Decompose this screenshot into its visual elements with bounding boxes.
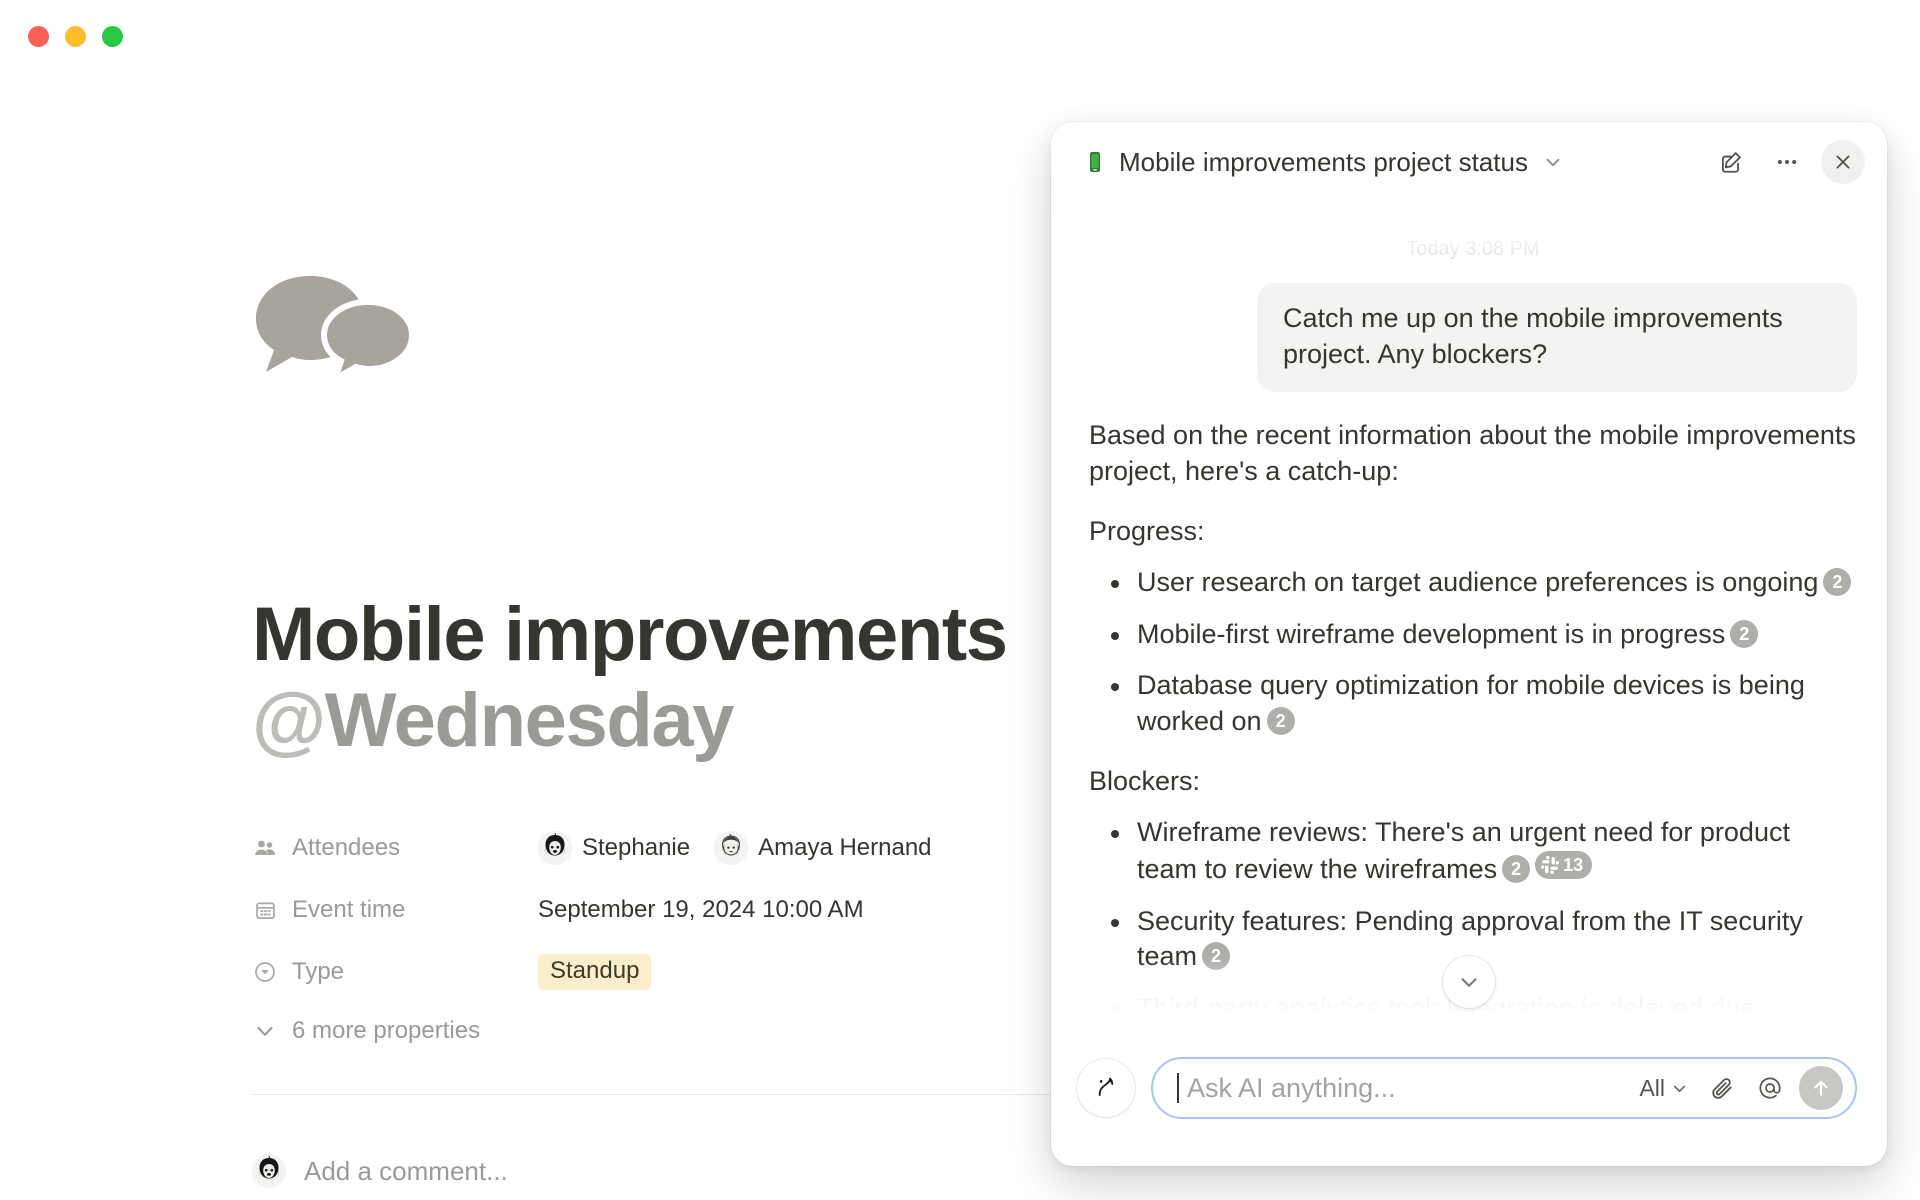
close-icon[interactable]	[1821, 140, 1865, 184]
list-item: Mobile-first wireframe development is in…	[1089, 617, 1857, 653]
window-close-button[interactable]	[28, 26, 49, 47]
citation-badge-slack[interactable]: 13	[1535, 851, 1592, 879]
more-horizontal-icon[interactable]	[1765, 140, 1809, 184]
ai-conversation-area[interactable]: Today 3:08 PM Catch me up on the mobile …	[1051, 202, 1887, 1034]
ai-section-heading-blockers: Blockers:	[1089, 764, 1857, 800]
chevron-down-icon	[1670, 1079, 1689, 1098]
ai-panel-header: Mobile improvements project status	[1051, 122, 1887, 202]
compose-icon[interactable]	[1709, 140, 1753, 184]
more-properties-label: 6 more properties	[292, 1017, 480, 1045]
user-message-row: Catch me up on the mobile improvements p…	[1089, 283, 1857, 392]
page-title-mention: Wednesday	[325, 678, 733, 763]
calendar-icon	[252, 897, 278, 923]
page-title-mention-at: @	[252, 678, 325, 763]
comment-input-placeholder[interactable]: Add a comment...	[304, 1156, 508, 1187]
property-label-type: Type	[252, 958, 538, 986]
ai-response-intro: Based on the recent information about th…	[1089, 418, 1857, 489]
send-arrow-up-icon[interactable]	[1799, 1066, 1843, 1110]
ai-assistant-icon[interactable]	[1077, 1059, 1135, 1117]
property-value-attendees[interactable]: Stephanie	[538, 831, 946, 865]
ai-chat-panel: Mobile improvements project status	[1051, 122, 1887, 1166]
ai-conversation-scroll[interactable]: Today 3:08 PM Catch me up on the mobile …	[1051, 202, 1887, 1034]
list-item-text: Third-party analytics tool: Integration …	[1137, 993, 1755, 1023]
people-icon	[252, 835, 278, 861]
text-caret	[1177, 1073, 1179, 1103]
attendee-name: Amaya Hernand	[758, 834, 931, 862]
traffic-lights	[28, 26, 123, 47]
user-message-bubble: Catch me up on the mobile improvements p…	[1257, 283, 1857, 392]
scope-label: All	[1639, 1075, 1665, 1102]
citation-badge[interactable]: 2	[1730, 620, 1758, 648]
add-comment-row[interactable]: Add a comment...	[252, 1154, 508, 1188]
attendee-item[interactable]: Stephanie	[538, 831, 690, 865]
property-label-text: Attendees	[292, 834, 400, 862]
avatar-amaya	[714, 831, 748, 865]
ai-composer: Ask AI anything... All	[1051, 1034, 1887, 1166]
speech-bubbles-icon	[252, 272, 422, 382]
scope-selector[interactable]: All	[1633, 1075, 1695, 1102]
list-item-text: Database query optimization for mobile d…	[1137, 670, 1805, 736]
page-title-text: Mobile improvements	[252, 592, 1007, 677]
at-icon[interactable]	[1749, 1067, 1791, 1109]
list-item: Wireframe reviews: There's an urgent nee…	[1089, 815, 1857, 887]
list-item: Database query optimization for mobile d…	[1089, 668, 1857, 739]
chevron-down-icon	[1456, 969, 1482, 995]
citation-count: 13	[1563, 856, 1583, 874]
ai-section-heading-progress: Progress:	[1089, 514, 1857, 550]
window-maximize-button[interactable]	[102, 26, 123, 47]
attendee-name: Stephanie	[582, 834, 690, 862]
citation-badge[interactable]: 2	[1823, 568, 1851, 596]
ai-section-list-progress: User research on target audience prefere…	[1089, 565, 1857, 740]
chevron-down-icon[interactable]	[1542, 151, 1564, 173]
select-icon	[252, 959, 278, 985]
attendee-item[interactable]: Amaya Hernand	[714, 831, 931, 865]
property-label-text: Type	[292, 958, 344, 986]
citation-badge[interactable]: 2	[1267, 707, 1295, 735]
avatar-stephanie	[252, 1154, 286, 1188]
ai-input-placeholder[interactable]: Ask AI anything...	[1187, 1073, 1627, 1104]
status-badge[interactable]: Standup	[538, 954, 651, 990]
scroll-to-bottom-button[interactable]	[1443, 956, 1495, 1008]
window-titlebar	[0, 0, 1920, 72]
list-item-text: Wireframe reviews: There's an urgent nee…	[1137, 817, 1790, 884]
list-item: User research on target audience prefere…	[1089, 565, 1857, 601]
chevron-down-icon	[252, 1018, 278, 1044]
window-minimize-button[interactable]	[65, 26, 86, 47]
slack-icon	[1540, 855, 1560, 875]
paperclip-icon[interactable]	[1701, 1067, 1743, 1109]
ai-input-shell[interactable]: Ask AI anything... All	[1151, 1057, 1857, 1119]
app-window: Mobile improvements @Wednesday	[0, 0, 1920, 1200]
citation-badge[interactable]: 2	[1502, 855, 1530, 883]
mobile-phone-icon	[1083, 150, 1107, 174]
property-label-attendees: Attendees	[252, 834, 538, 862]
property-label-text: Event time	[292, 896, 405, 924]
property-label-event-time: Event time	[252, 896, 538, 924]
list-item-text: Mobile-first wireframe development is in…	[1137, 619, 1725, 649]
conversation-timestamp: Today 3:08 PM	[1089, 238, 1857, 261]
citation-badge[interactable]: 2	[1202, 942, 1230, 970]
property-value-event-time[interactable]: September 19, 2024 10:00 AM	[538, 896, 864, 924]
list-item-text: User research on target audience prefere…	[1137, 567, 1818, 597]
property-value-type[interactable]: Standup	[538, 954, 651, 990]
avatar-stephanie	[538, 831, 572, 865]
ai-panel-title: Mobile improvements project status	[1119, 147, 1528, 178]
